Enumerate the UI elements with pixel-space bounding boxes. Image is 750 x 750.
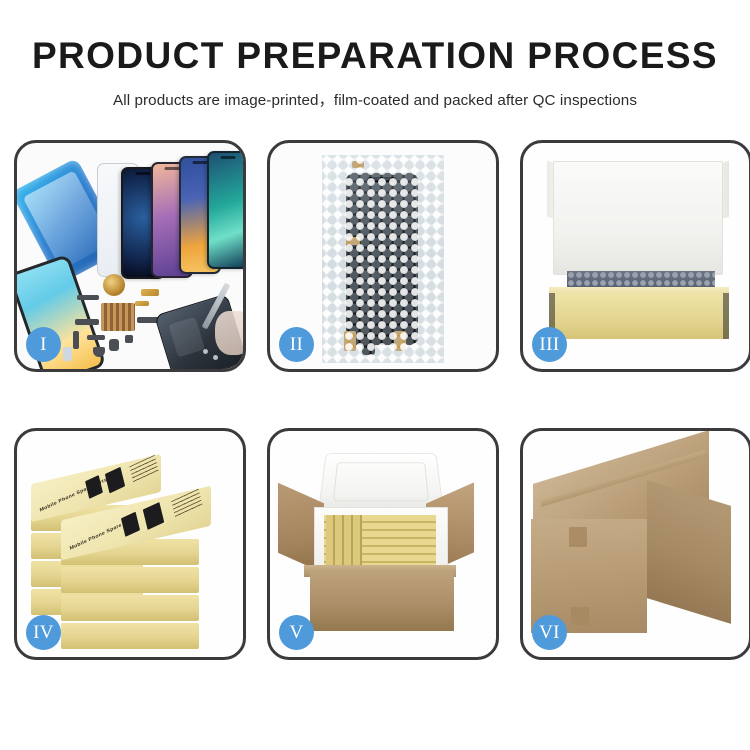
notch-icon [193, 161, 208, 164]
step-panel-5: V [267, 428, 499, 660]
lid-printed-lines [129, 455, 158, 483]
step-panel-3: III [520, 140, 750, 372]
notch-icon [221, 156, 236, 159]
carton-front-icon [310, 571, 454, 631]
lid-printed-lines [171, 489, 203, 519]
yellow-box-base-icon [549, 293, 729, 339]
camera-module-icon [109, 339, 119, 351]
carton-flap-tab-icon [569, 527, 587, 547]
yellow-boxes-inside-icon [326, 515, 362, 565]
page-title: PRODUCT PREPARATION PROCESS [0, 36, 750, 77]
hand-icon [215, 311, 243, 355]
screw-icon [213, 355, 218, 360]
stacked-box [61, 567, 199, 593]
bracket-icon [75, 319, 99, 325]
step-badge-6: VI [532, 615, 567, 650]
phone-teal-icon [207, 151, 243, 269]
gold-connector-icon [135, 301, 149, 306]
step-badge-3: III [532, 327, 567, 362]
screw-icon [203, 349, 208, 354]
chip-icon [125, 335, 133, 343]
step-badge-4: IV [26, 615, 61, 650]
carton-side-icon [647, 480, 731, 624]
step-panel-2: II [267, 140, 499, 372]
notch-icon [136, 172, 151, 175]
stacked-box [61, 595, 199, 621]
bubble-texture [322, 155, 444, 363]
lid-window-icon [143, 502, 165, 530]
yellow-box-stack: Mobile Phone Spare Parts Mobile Phone Sp… [25, 447, 241, 647]
notch-icon [165, 167, 180, 170]
bracket-icon [87, 335, 105, 340]
logic-board-icon [101, 303, 135, 331]
part-strip-icon [77, 295, 99, 300]
white-box-lid-icon [553, 161, 723, 275]
step-badge-5: V [279, 615, 314, 650]
product-preparation-poster: PRODUCT PREPARATION PROCESS All products… [0, 0, 750, 750]
lid-window-icon [121, 512, 140, 537]
process-step-grid: I II [14, 140, 736, 660]
sim-tray-icon [63, 347, 72, 361]
page-subtitle: All products are image-printed，film-coat… [0, 88, 750, 110]
box-edge-icon [723, 293, 729, 339]
step-badge-2: II [279, 327, 314, 362]
bubble-bag-icon [322, 155, 444, 363]
lid-window-icon [105, 467, 125, 494]
bracket-icon [73, 331, 79, 349]
poster-header: PRODUCT PREPARATION PROCESS All products… [0, 0, 750, 110]
step-panel-1: I [14, 140, 246, 372]
gold-connector-icon [141, 289, 159, 296]
step-panel-4: Mobile Phone Spare Parts Mobile Phone Sp… [14, 428, 246, 660]
stacked-box [61, 623, 199, 649]
vibration-motor-icon [103, 274, 125, 296]
step-badge-1: I [26, 327, 61, 362]
step-panel-6: VI [520, 428, 750, 660]
carton-flap-tab-icon [571, 607, 589, 625]
phone-lineup [117, 151, 242, 277]
